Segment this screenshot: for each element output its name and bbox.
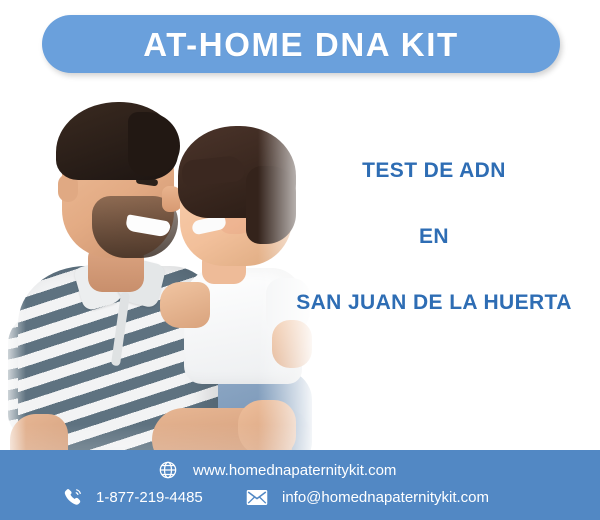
header-banner: AT-HOME DNA KIT <box>42 15 560 73</box>
footer-email[interactable]: info@homednapaternitykit.com <box>246 486 489 508</box>
footer-phone-label: 1-877-219-4485 <box>96 490 203 505</box>
headline-line-2: EN <box>268 226 600 247</box>
footer-contact-band: www.homednapaternitykit.com 1-877-219-44… <box>0 450 600 520</box>
footer-website[interactable]: www.homednapaternitykit.com <box>157 459 396 481</box>
headline-line-3: SAN JUAN DE LA HUERTA <box>268 292 600 313</box>
footer-website-label: www.homednapaternitykit.com <box>193 463 396 478</box>
child-left-arm <box>160 282 210 328</box>
globe-icon <box>157 459 179 481</box>
photo-bottom-fade <box>0 378 330 460</box>
footer-email-label: info@homednapaternitykit.com <box>282 490 489 505</box>
promotional-card: AT-HOME DNA KIT <box>0 0 600 520</box>
headline-line-1: TEST DE ADN <box>268 160 600 181</box>
envelope-icon <box>246 486 268 508</box>
headline-block: TEST DE ADN EN SAN JUAN DE LA HUERTA <box>268 160 600 313</box>
header-title: AT-HOME DNA KIT <box>143 28 458 61</box>
phone-icon <box>62 486 84 508</box>
footer-phone[interactable]: 1-877-219-4485 <box>62 486 203 508</box>
